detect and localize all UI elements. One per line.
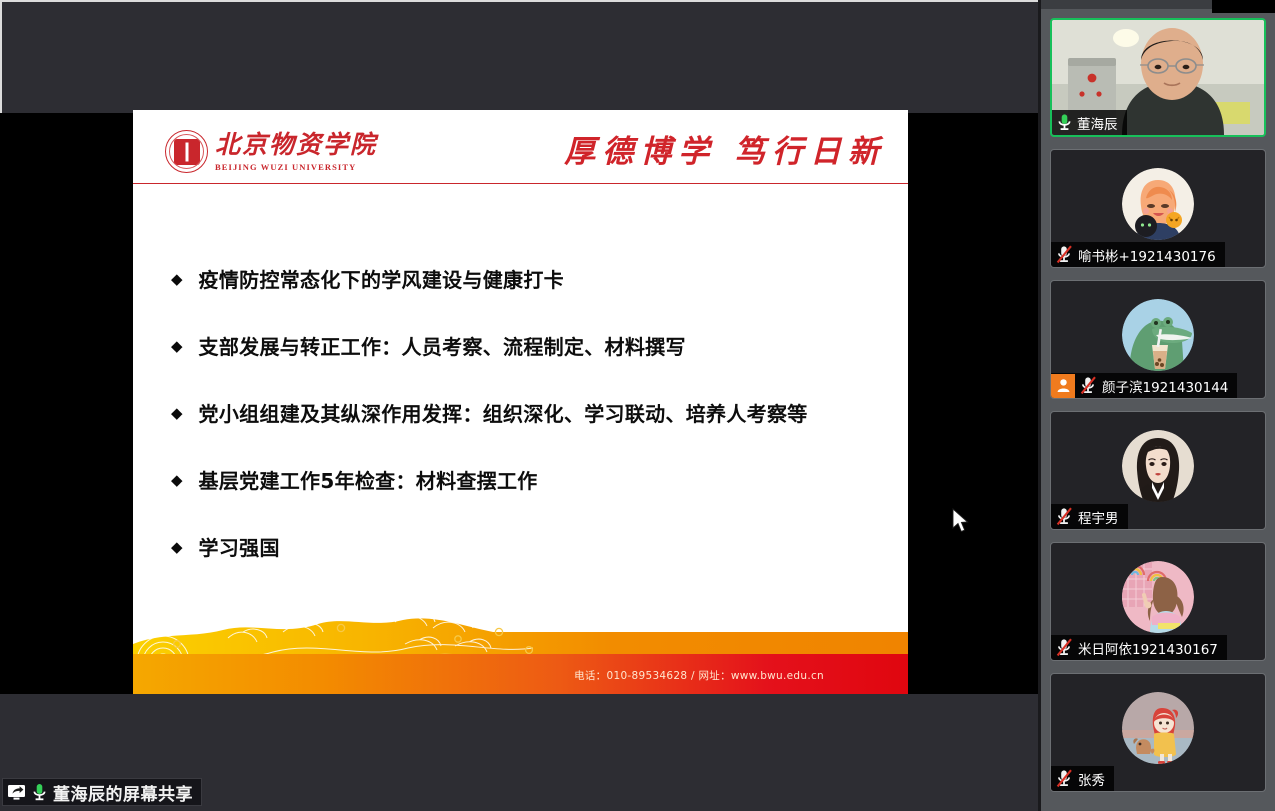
slide-footer-band: 电话：010-89534628 / 网址：www.bwu.edu.cn (133, 654, 908, 694)
slide-footer-contact: 电话：010-89534628 / 网址：www.bwu.edu.cn (574, 668, 824, 683)
slide-bullet-item: ◆基层党建工作5年检查：材料查摆工作 (171, 469, 871, 493)
university-motto: 厚德博学 笃行日新 (564, 126, 886, 171)
participant-tile[interactable]: 董海辰 (1050, 18, 1266, 137)
microphone-muted-icon (1056, 245, 1073, 264)
shared-screen-viewport[interactable]: 北京物资学院 BEIJING WUZI UNIVERSITY 厚德博学 笃行日新… (0, 0, 1041, 811)
screen-share-status-bar[interactable]: 董海辰的屏幕共享 (2, 778, 202, 806)
participant-name-bar: 张秀 (1051, 766, 1114, 791)
participant-name: 喻书彬+1921430176 (1078, 245, 1216, 265)
bullet-text: 疫情防控常态化下的学风建设与健康打卡 (199, 268, 564, 292)
slide-bullet-item: ◆支部发展与转正工作：人员考察、流程制定、材料撰写 (171, 335, 871, 359)
participant-tile[interactable]: 喻书彬+1921430176 (1050, 149, 1266, 268)
participant-name: 张秀 (1078, 769, 1105, 789)
participant-avatar (1122, 168, 1194, 240)
slide-bullet-item: ◆党小组组建及其纵深作用发挥：组织深化、学习联动、培养人考察等 (171, 402, 871, 426)
bullet-text: 学习强国 (199, 536, 280, 560)
participant-name: 米日阿依1921430167 (1078, 638, 1218, 658)
participant-avatar (1122, 430, 1194, 502)
university-logo: 北京物资学院 BEIJING WUZI UNIVERSITY (165, 130, 377, 173)
bullet-diamond-icon: ◆ (171, 402, 183, 425)
bullet-diamond-icon: ◆ (171, 335, 183, 358)
university-seal-icon (165, 130, 208, 173)
microphone-on-icon (1057, 113, 1072, 132)
bullet-text: 党小组组建及其纵深作用发挥：组织深化、学习联动、培养人考察等 (199, 402, 808, 426)
participant-tile[interactable]: 颜子滨1921430144 (1050, 280, 1266, 399)
bullet-diamond-icon: ◆ (171, 536, 183, 559)
participant-rail[interactable]: 董海辰 喻书彬+1921430176 (1041, 0, 1275, 811)
participant-avatar (1122, 561, 1194, 633)
bullet-diamond-icon: ◆ (171, 268, 183, 291)
slide-bullet-item: ◆疫情防控常态化下的学风建设与健康打卡 (171, 268, 871, 292)
bullet-text: 支部发展与转正工作：人员考察、流程制定、材料撰写 (199, 335, 686, 359)
participant-name-bar: 米日阿依1921430167 (1051, 635, 1227, 660)
participant-name: 颜子滨1921430144 (1102, 376, 1228, 396)
microphone-muted-icon (1056, 638, 1073, 657)
participant-name-bar: 董海辰 (1052, 110, 1127, 135)
slide-header: 北京物资学院 BEIJING WUZI UNIVERSITY 厚德博学 笃行日新 (133, 110, 908, 184)
participant-name-bar: 颜子滨1921430144 (1051, 373, 1237, 398)
participant-tile[interactable]: 程宇男 (1050, 411, 1266, 530)
host-person-icon (1051, 374, 1075, 398)
slide-bullet-item: ◆学习强国 (171, 536, 871, 560)
conference-window: 北京物资学院 BEIJING WUZI UNIVERSITY 厚德博学 笃行日新… (0, 0, 1275, 811)
university-name-cn: 北京物资学院 (215, 131, 377, 159)
microphone-muted-icon (1080, 376, 1097, 395)
participant-name: 程宇男 (1078, 507, 1119, 527)
participant-tile-list: 董海辰 喻书彬+1921430176 (1050, 18, 1266, 804)
rail-top-black-region (1212, 0, 1275, 13)
microphone-muted-icon (1056, 507, 1073, 526)
screen-share-owner-label: 董海辰的屏幕共享 (53, 780, 193, 805)
university-name-en: BEIJING WUZI UNIVERSITY (215, 162, 377, 172)
participant-name-bar: 程宇男 (1051, 504, 1128, 529)
microphone-on-icon (32, 783, 47, 802)
share-letterbox-top (0, 0, 1041, 113)
bullet-text: 基层党建工作5年检查：材料查摆工作 (199, 469, 538, 493)
participant-avatar (1122, 299, 1194, 371)
slide-wave-decoration: 电话：010-89534628 / 网址：www.bwu.edu.cn (133, 602, 908, 694)
participant-name: 董海辰 (1077, 113, 1118, 133)
presentation-slide: 北京物资学院 BEIJING WUZI UNIVERSITY 厚德博学 笃行日新… (133, 110, 908, 694)
participant-tile[interactable]: 米日阿依1921430167 (1050, 542, 1266, 661)
mouse-pointer-icon (952, 508, 970, 534)
header-divider (133, 183, 908, 184)
screen-share-icon (7, 784, 26, 801)
participant-avatar (1122, 692, 1194, 764)
participant-name-bar: 喻书彬+1921430176 (1051, 242, 1225, 267)
participant-tile[interactable]: 张秀 (1050, 673, 1266, 792)
slide-bullet-list: ◆疫情防控常态化下的学风建设与健康打卡◆支部发展与转正工作：人员考察、流程制定、… (171, 268, 871, 560)
microphone-muted-icon (1056, 769, 1073, 788)
bullet-diamond-icon: ◆ (171, 469, 183, 492)
